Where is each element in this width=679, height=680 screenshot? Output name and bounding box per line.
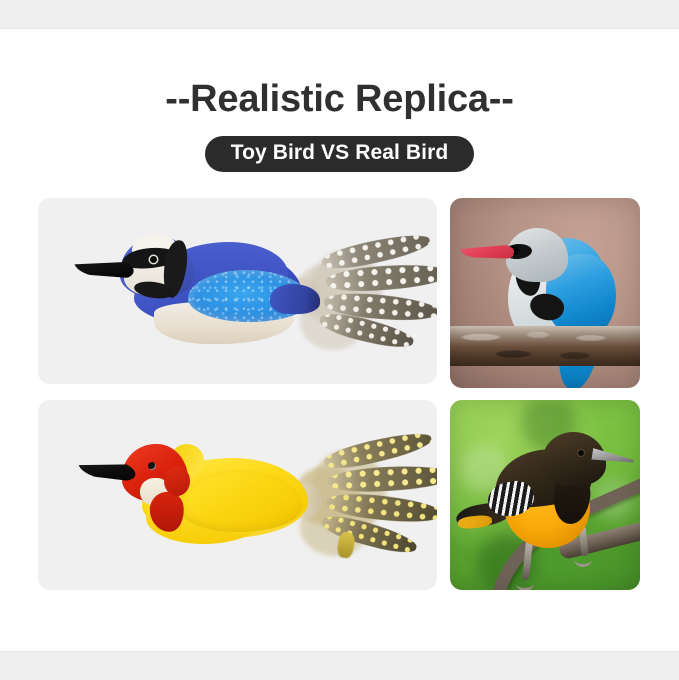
bird-claw	[516, 576, 534, 590]
real-bird-photo-oriole	[450, 400, 640, 590]
yellow-toy-bird-illustration	[38, 400, 437, 590]
toy-cheek	[164, 466, 190, 496]
blue-jay-toy-illustration	[38, 198, 437, 384]
toy-wing-edge	[270, 284, 320, 314]
toy-bird-panel-blue	[38, 198, 437, 384]
comparison-badge: Toy Bird VS Real Bird	[205, 136, 475, 172]
bottom-letterbox-band	[0, 651, 679, 680]
top-letterbox-band	[0, 0, 679, 29]
real-bird-photo-kingfisher	[450, 198, 640, 388]
badge-container: Toy Bird VS Real Bird	[0, 136, 679, 172]
perch-branch	[450, 326, 640, 366]
product-infographic-page: --Realistic Replica-- Toy Bird VS Real B…	[0, 0, 679, 679]
toy-eye	[148, 462, 156, 470]
toy-foot	[336, 531, 355, 559]
toy-bird-panel-yellow	[38, 400, 437, 590]
toy-eye	[150, 256, 157, 263]
kingfisher-scene	[450, 198, 640, 388]
bird-eye	[578, 450, 584, 456]
bird-claw	[574, 552, 592, 567]
page-title: --Realistic Replica--	[0, 76, 679, 122]
oriole-scene	[450, 400, 640, 590]
